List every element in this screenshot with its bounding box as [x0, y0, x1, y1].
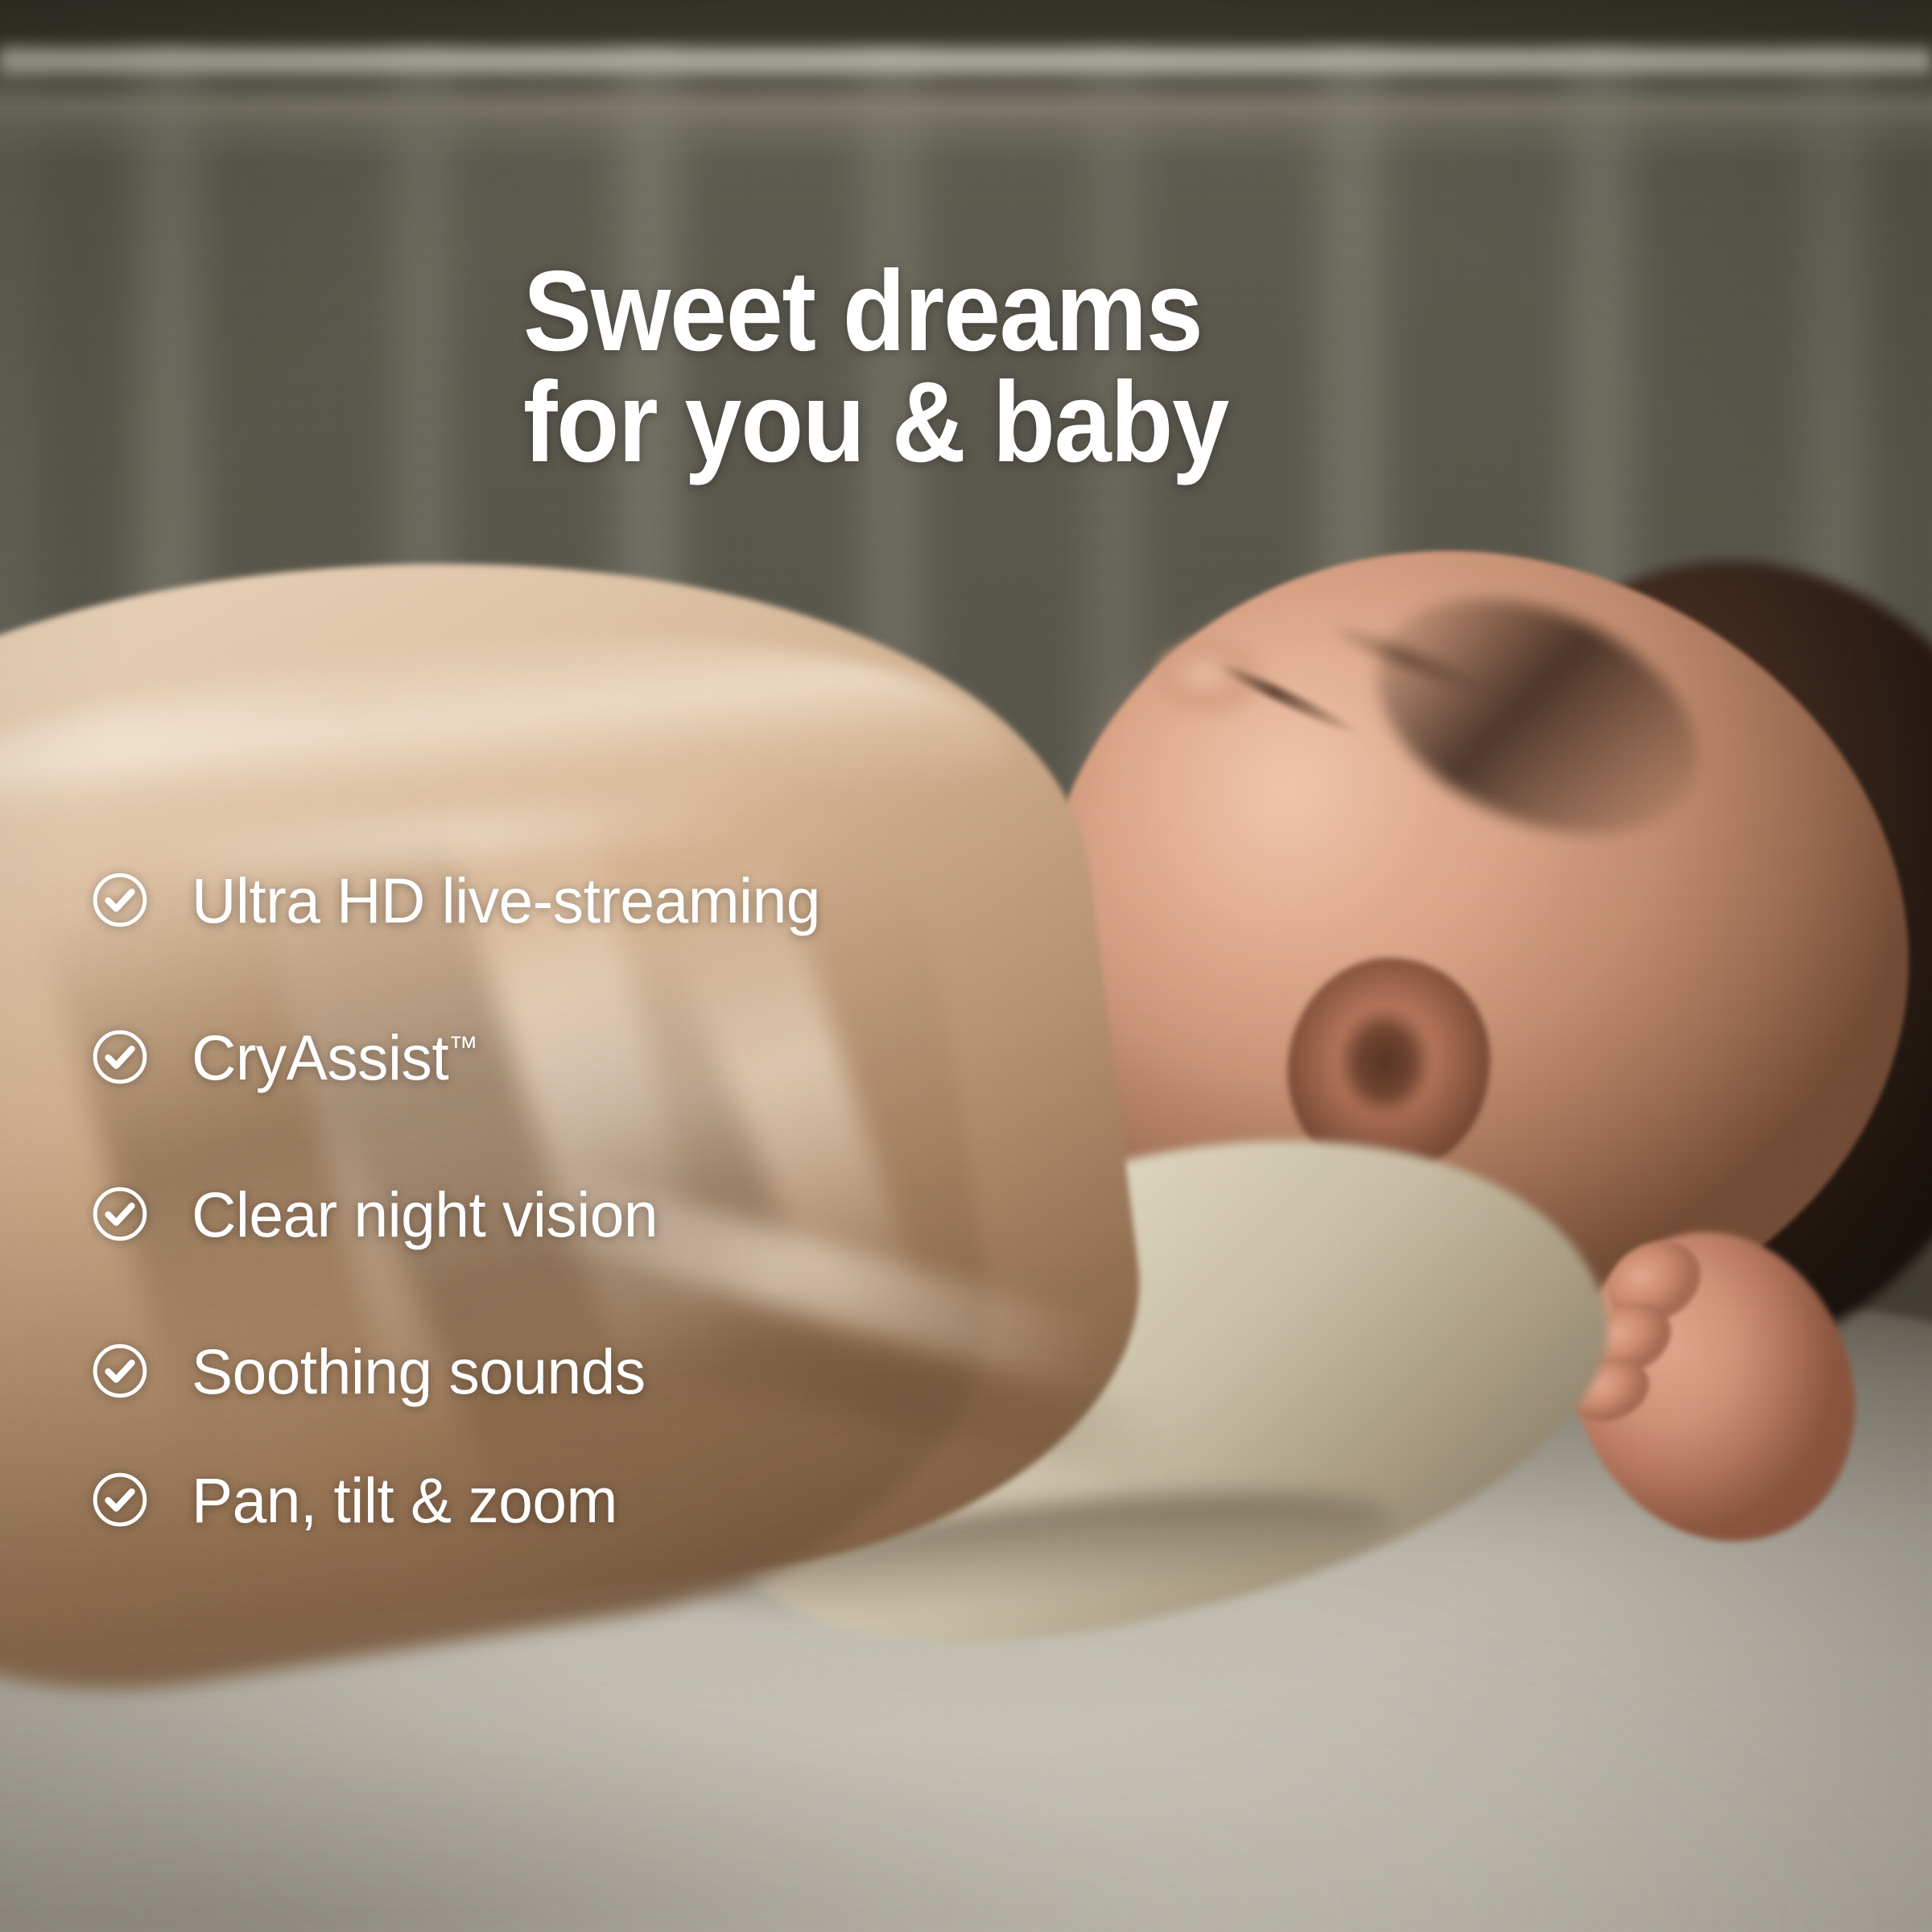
feature-label: Soothing sounds: [192, 1340, 646, 1403]
feature-label: Ultra HD live-streaming: [192, 869, 820, 932]
feature-label: Clear night vision: [192, 1183, 658, 1246]
check-circle-icon: [90, 1027, 150, 1087]
feature-item: Pan, tilt & zoom: [90, 1459, 1298, 1540]
check-circle-icon: [90, 1470, 150, 1529]
trademark-symbol: ™: [448, 1030, 478, 1064]
check-circle-icon: [90, 1341, 150, 1401]
check-circle-icon: [90, 1184, 150, 1244]
feature-label: Pan, tilt & zoom: [192, 1468, 617, 1532]
feature-label: CryAssist™: [192, 1026, 478, 1089]
check-circle-icon: [90, 870, 150, 930]
feature-list: Ultra HD live-streaming CryAssist™ Clear…: [90, 860, 1298, 1540]
text-overlay: Sweet dreams for you & baby Ultra HD liv…: [0, 0, 1932, 1932]
feature-label-text: CryAssist: [192, 1022, 448, 1093]
feature-item: Ultra HD live-streaming: [90, 860, 1298, 940]
feature-item: CryAssist™: [90, 1017, 1298, 1097]
feature-item: Soothing sounds: [90, 1331, 1298, 1411]
promo-banner: Sweet dreams for you & baby Ultra HD liv…: [0, 0, 1932, 1932]
headline: Sweet dreams for you & baby: [523, 256, 1393, 477]
feature-item: Clear night vision: [90, 1174, 1298, 1254]
